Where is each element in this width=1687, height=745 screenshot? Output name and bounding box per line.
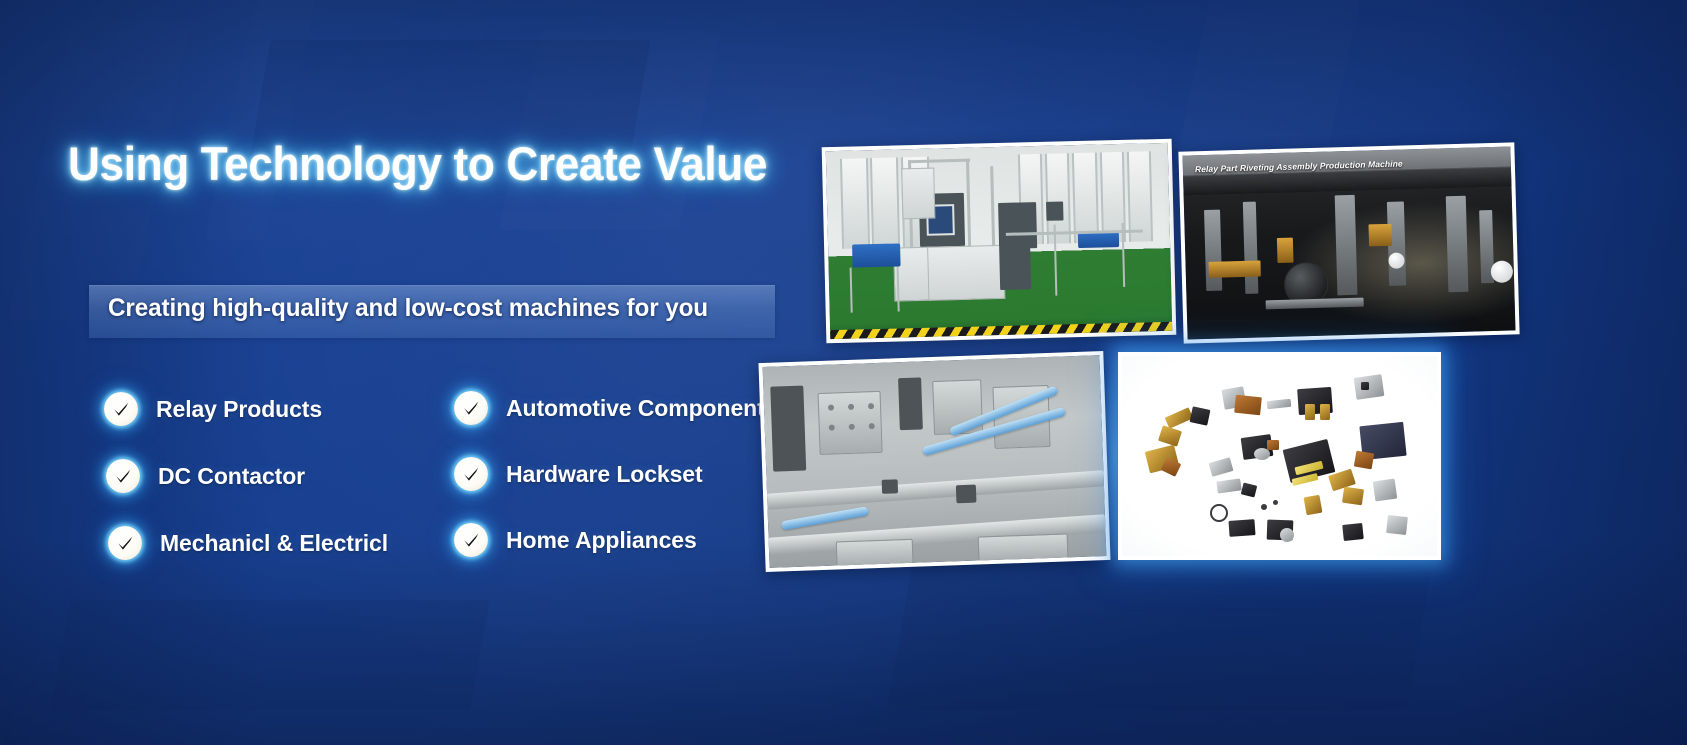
relay-components-photo[interactable]: [1118, 352, 1441, 560]
factory-assembly-line-photo[interactable]: [822, 139, 1177, 343]
promo-banner: Using Technology to Create Value Creatin…: [0, 0, 1687, 745]
photo-collage: Relay Part Riveting Assembly Production …: [0, 0, 1687, 745]
machine-interior-photo[interactable]: Relay Part Riveting Assembly Production …: [1178, 142, 1519, 343]
automation-equipment-photo[interactable]: [758, 351, 1110, 572]
